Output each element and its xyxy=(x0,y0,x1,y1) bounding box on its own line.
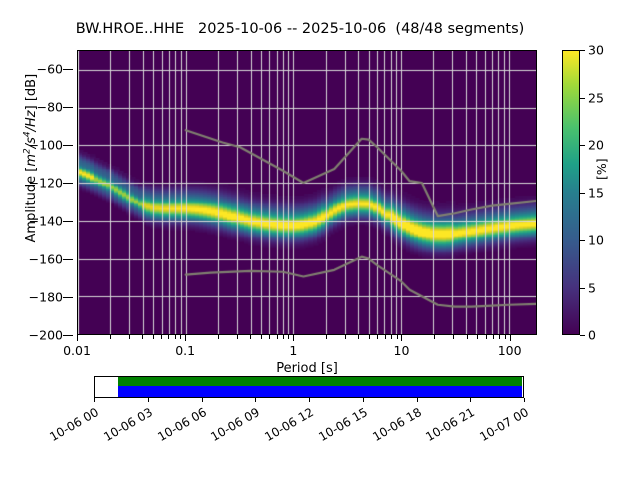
colorbar-tick-label: 30 xyxy=(588,43,604,58)
colorbar-tick xyxy=(580,240,585,241)
page-title: BW.HROE..HHE 2025-10-06 -- 2025-10-06 (4… xyxy=(0,21,600,37)
x-axis-minor-tick xyxy=(477,335,478,339)
x-axis-minor-tick xyxy=(168,335,169,339)
x-axis-label: Period [s] xyxy=(77,361,537,376)
timeline-tick xyxy=(94,398,95,402)
x-axis-minor-tick xyxy=(250,335,251,339)
x-axis-minor-tick xyxy=(288,335,289,339)
y-axis-tick xyxy=(63,297,73,298)
x-axis-tick xyxy=(77,335,78,341)
x-axis-minor-tick xyxy=(161,335,162,339)
x-axis-tick xyxy=(510,335,511,341)
x-axis-minor-tick xyxy=(218,335,219,339)
timeline-tick xyxy=(309,398,310,402)
x-axis-minor-tick xyxy=(142,335,143,339)
x-axis-minor-tick xyxy=(397,335,398,339)
y-axis-tick xyxy=(63,145,73,146)
x-axis-minor-tick xyxy=(505,335,506,339)
x-axis-minor-tick xyxy=(499,335,500,339)
y-axis-tick-label: −60 xyxy=(37,62,63,77)
colorbar-tick-label: 20 xyxy=(588,138,604,153)
x-axis-minor-tick xyxy=(369,335,370,339)
colorbar-tick xyxy=(580,98,585,99)
y-axis-tick xyxy=(63,107,73,108)
x-axis-tick xyxy=(185,335,186,341)
x-axis-minor-tick xyxy=(377,335,378,339)
x-axis-minor-tick xyxy=(493,335,494,339)
y-axis-tick-label: −180 xyxy=(29,290,63,305)
y-axis-tick xyxy=(63,259,73,260)
x-axis-tick-label: 10 xyxy=(394,343,410,358)
x-axis-minor-tick xyxy=(129,335,130,339)
timeline-tick xyxy=(470,398,471,402)
x-axis-minor-tick xyxy=(180,335,181,339)
coverage-bar-blue xyxy=(118,386,522,398)
x-axis-minor-tick xyxy=(486,335,487,339)
y-axis-tick-label: −100 xyxy=(29,138,63,153)
x-axis-minor-tick xyxy=(110,335,111,339)
ppsd-density-canvas xyxy=(78,51,536,334)
x-axis-minor-tick xyxy=(345,335,346,339)
x-axis-tick xyxy=(293,335,294,341)
coverage-bar-green xyxy=(118,377,522,386)
data-coverage-timeline[interactable] xyxy=(94,376,524,398)
y-axis-tick-label: −120 xyxy=(29,176,63,191)
y-axis-tick xyxy=(63,183,73,184)
colorbar-tick xyxy=(580,288,585,289)
x-axis-minor-tick xyxy=(261,335,262,339)
x-axis-minor-tick xyxy=(153,335,154,339)
x-axis-minor-tick xyxy=(385,335,386,339)
timeline-tick xyxy=(363,398,364,402)
y-axis-tick-label: −80 xyxy=(37,100,63,115)
x-axis-minor-tick xyxy=(434,335,435,339)
timeline-tick xyxy=(524,398,525,402)
colorbar-tick xyxy=(580,145,585,146)
x-axis-tick xyxy=(401,335,402,341)
x-axis-minor-tick xyxy=(467,335,468,339)
colorbar-tick xyxy=(580,335,585,336)
colorbar-tick-label: 5 xyxy=(588,280,596,295)
y-axis-tick xyxy=(63,221,73,222)
timeline-tick xyxy=(202,398,203,402)
y-axis-tick-label: −160 xyxy=(29,252,63,267)
x-axis-minor-tick xyxy=(283,335,284,339)
timeline-tick xyxy=(148,398,149,402)
x-axis-tick-label: 0.1 xyxy=(175,343,195,358)
x-axis-minor-tick xyxy=(269,335,270,339)
x-axis-minor-tick xyxy=(175,335,176,339)
y-axis-tick-label: −140 xyxy=(29,214,63,229)
colorbar-tick xyxy=(580,193,585,194)
y-axis-tick xyxy=(63,69,73,70)
colorbar-tick-label: 0 xyxy=(588,328,596,343)
x-axis-tick-label: 1 xyxy=(289,343,297,358)
x-axis-minor-tick xyxy=(326,335,327,339)
timeline-tick xyxy=(255,398,256,402)
x-axis-tick-label: 100 xyxy=(498,343,522,358)
x-axis-minor-tick xyxy=(358,335,359,339)
y-axis-tick xyxy=(63,335,73,336)
ppsd-plot-area xyxy=(77,50,537,335)
colorbar-label: [%] xyxy=(594,158,609,180)
x-axis-tick-label: 0.01 xyxy=(63,343,91,358)
colorbar-tick-label: 10 xyxy=(588,233,604,248)
colorbar-tick-label: 25 xyxy=(588,90,604,105)
timeline-tick xyxy=(417,398,418,402)
x-axis-minor-tick xyxy=(277,335,278,339)
x-axis-minor-tick xyxy=(237,335,238,339)
ppsd-figure: BW.HROE..HHE 2025-10-06 -- 2025-10-06 (4… xyxy=(0,0,640,480)
x-axis-minor-tick xyxy=(391,335,392,339)
colorbar-tick-label: 15 xyxy=(588,185,604,200)
x-axis-minor-tick xyxy=(453,335,454,339)
colorbar-tick xyxy=(580,50,585,51)
colorbar xyxy=(562,50,580,335)
y-axis-tick-label: −200 xyxy=(29,328,63,343)
